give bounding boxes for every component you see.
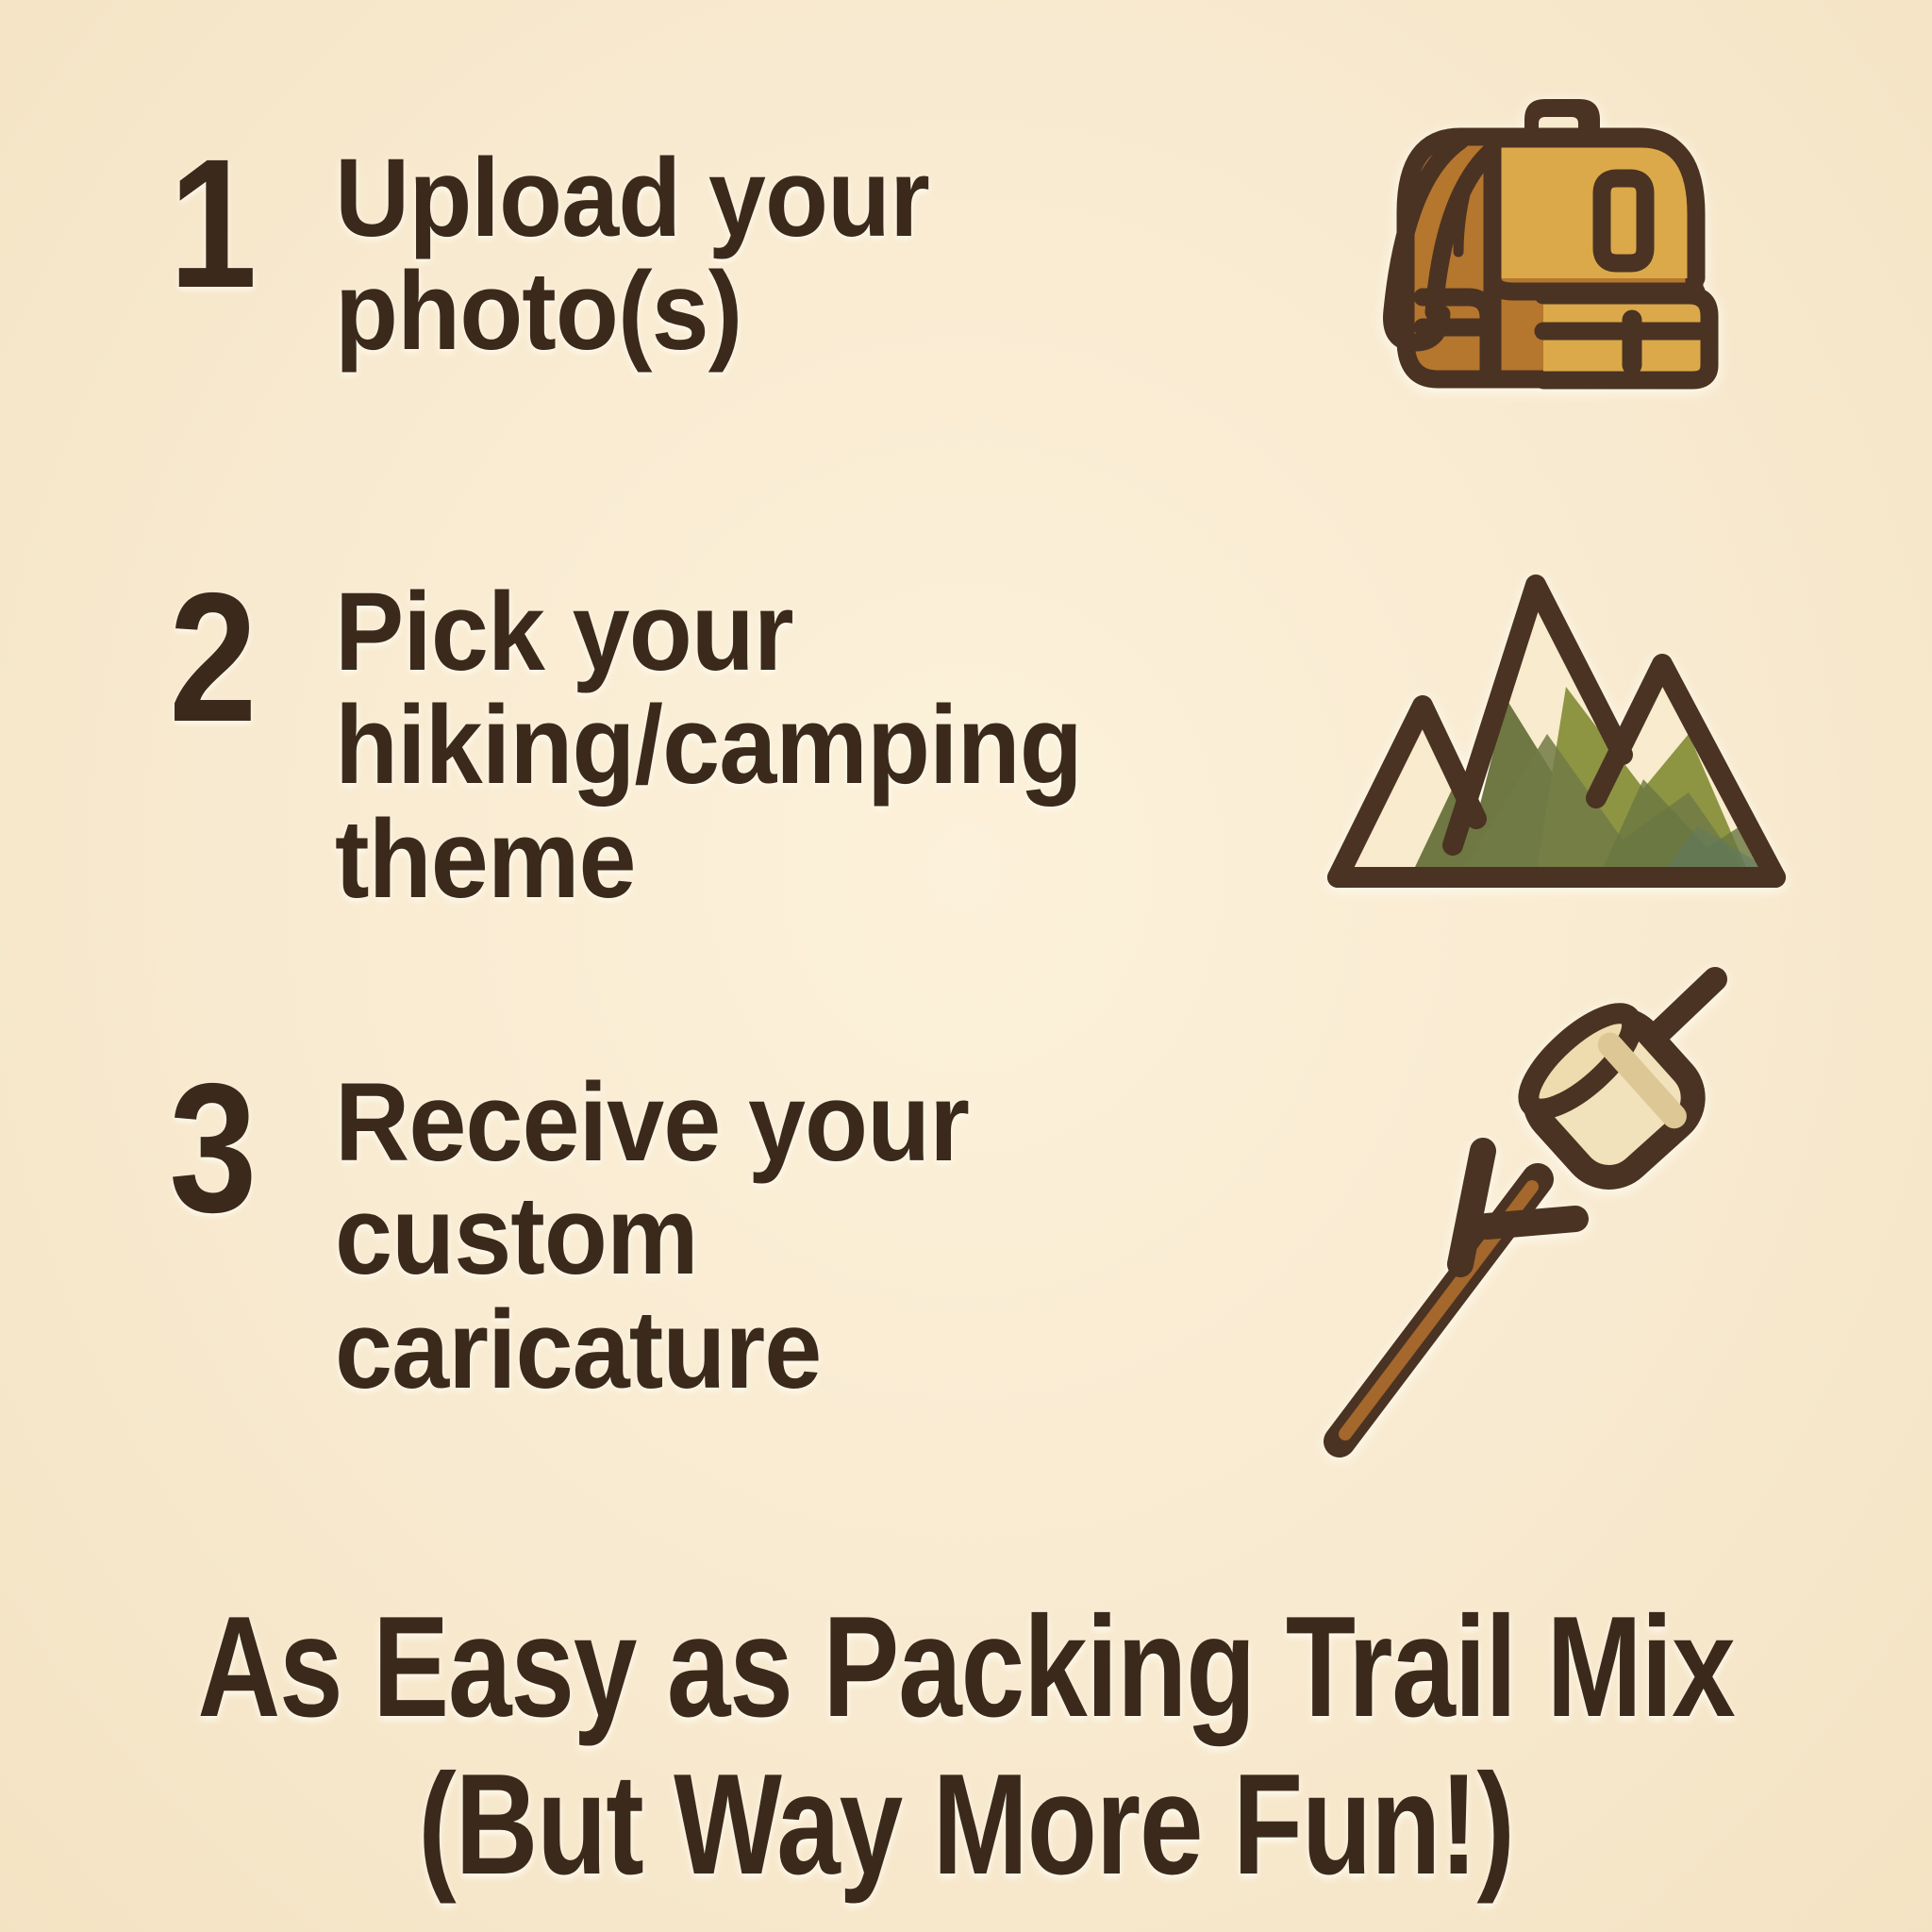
step-number-1: 1 bbox=[152, 142, 274, 308]
step-label-3: Receive your custom caricature bbox=[335, 1066, 1194, 1407]
step-label-2: Pick your hiking/camping theme bbox=[335, 575, 1265, 916]
step-label-1: Upload your photo(s) bbox=[335, 142, 1194, 369]
step-number-3: 3 bbox=[152, 1066, 274, 1232]
mountain-icon bbox=[1311, 566, 1802, 915]
tagline: As Easy as Packing Trail Mix (But Way Mo… bbox=[0, 1594, 1932, 1898]
step-number-2: 2 bbox=[152, 575, 274, 741]
backpack-icon bbox=[1349, 71, 1764, 401]
step-item-2: 2 Pick your hiking/camping theme bbox=[142, 575, 1335, 916]
step-item-3: 3 Receive your custom caricature bbox=[142, 1066, 1259, 1407]
step-item-1: 1 Upload your photo(s) bbox=[142, 142, 1259, 369]
tagline-line-2: (But Way More Fun!) bbox=[193, 1752, 1739, 1898]
tagline-line-1: As Easy as Packing Trail Mix bbox=[193, 1594, 1739, 1740]
marshmallow-on-stick-icon bbox=[1302, 943, 1764, 1472]
